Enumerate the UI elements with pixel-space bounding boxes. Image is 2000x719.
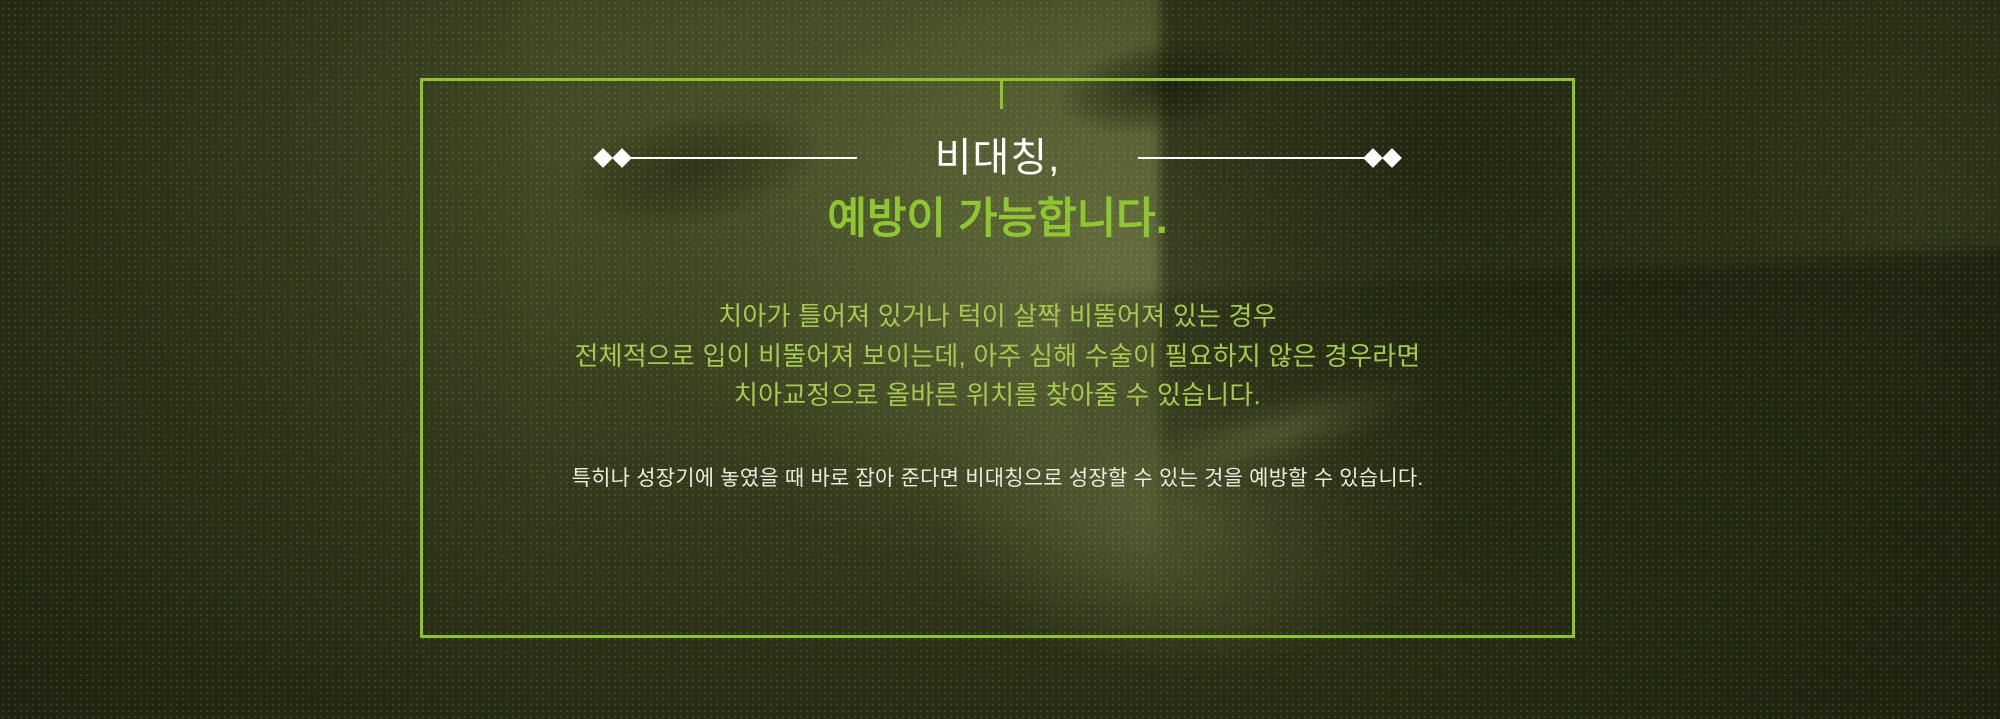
page-title: 비대칭, — [857, 138, 1139, 178]
promo-banner: 비대칭, 예방이 가능합니다. 치아가 틀어져 있거나 턱이 살짝 비뚤어져 있… — [0, 0, 2000, 719]
diamond-icon — [593, 148, 613, 168]
rule-left — [629, 157, 857, 159]
banner-content: 비대칭, 예방이 가능합니다. 치아가 틀어져 있거나 턱이 살짝 비뚤어져 있… — [420, 78, 1575, 638]
diamond-decor-left — [596, 151, 629, 165]
body-line: 전체적으로 입이 비뚤어져 보이는데, 아주 심해 수술이 필요하지 않은 경우… — [574, 337, 1420, 377]
diamond-icon — [612, 148, 632, 168]
body-paragraph: 치아가 틀어져 있거나 턱이 살짝 비뚤어져 있는 경우 전체적으로 입이 비뚤… — [574, 297, 1420, 416]
diamond-decor-right — [1366, 151, 1399, 165]
diamond-icon — [1382, 148, 1402, 168]
rule-right — [1138, 157, 1366, 159]
heading-row: 비대칭, — [420, 138, 1575, 178]
page-subtitle: 예방이 가능합니다. — [827, 196, 1167, 243]
body-line: 치아교정으로 올바른 위치를 찾아줄 수 있습니다. — [574, 376, 1420, 416]
diamond-icon — [1363, 148, 1383, 168]
body-line: 치아가 틀어져 있거나 턱이 살짝 비뚤어져 있는 경우 — [574, 297, 1420, 337]
note-text: 특히나 성장기에 놓였을 때 바로 잡아 준다면 비대칭으로 성장할 수 있는 … — [572, 462, 1424, 492]
